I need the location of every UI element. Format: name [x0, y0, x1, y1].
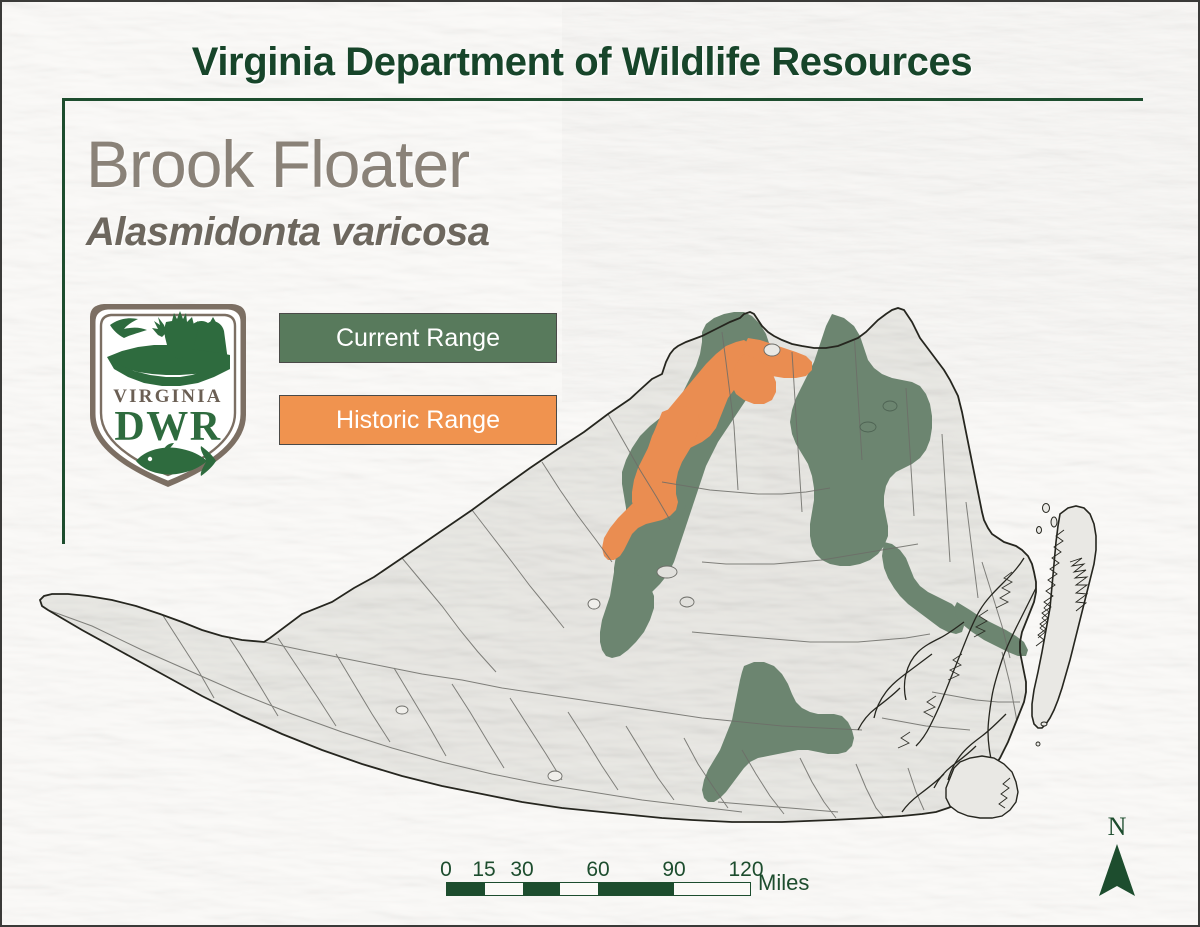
- legend-item-current-range[interactable]: Current Range: [279, 313, 557, 363]
- scale-seg-90-120: [674, 883, 751, 895]
- north-arrow-label: N: [1094, 814, 1140, 840]
- species-scientific-name: Alasmidonta varicosa: [86, 210, 490, 255]
- scale-track: [446, 882, 751, 896]
- scale-bar: 0 15 30 60 90 120 Miles: [446, 858, 751, 896]
- header-rule-vertical: [62, 98, 65, 544]
- range-map-poster: Virginia Department of Wildlife Resource…: [0, 0, 1200, 927]
- scale-tick-0: 0: [440, 858, 452, 882]
- north-arrow: N: [1094, 814, 1140, 905]
- scale-units-label: Miles: [758, 870, 809, 896]
- scale-tick-60: 60: [586, 858, 609, 882]
- southeast-coast: [946, 756, 1018, 818]
- north-arrow-icon: [1096, 842, 1138, 900]
- scale-seg-0-15: [447, 883, 485, 895]
- scale-tick-30: 30: [510, 858, 533, 882]
- page-title: Virginia Department of Wildlife Resource…: [2, 40, 1162, 85]
- species-common-name: Brook Floater: [86, 126, 469, 202]
- scale-tick-15: 15: [472, 858, 495, 882]
- virginia-dwr-logo: VIRGINIA DWR: [80, 295, 256, 495]
- scale-tick-labels: 0 15 30 60 90 120: [446, 858, 751, 882]
- logo-dwr-word: DWR: [114, 404, 221, 450]
- scale-seg-60-90: [598, 883, 674, 895]
- scale-seg-30-45: [523, 883, 561, 895]
- scale-seg-15-30: [485, 883, 523, 895]
- eastern-shore: [1032, 504, 1096, 747]
- historic-range-areas: [602, 338, 812, 560]
- chesapeake-shoreline: [858, 558, 1036, 812]
- current-range-areas: [600, 312, 1028, 802]
- legend-label-historic: Historic Range: [336, 406, 500, 435]
- scale-tick-90: 90: [662, 858, 685, 882]
- scale-seg-45-60: [560, 883, 598, 895]
- header-rule-horizontal: [62, 98, 1143, 101]
- map-legend: Current Range Historic Range: [279, 313, 557, 477]
- legend-item-historic-range[interactable]: Historic Range: [279, 395, 557, 445]
- legend-label-current: Current Range: [336, 324, 500, 353]
